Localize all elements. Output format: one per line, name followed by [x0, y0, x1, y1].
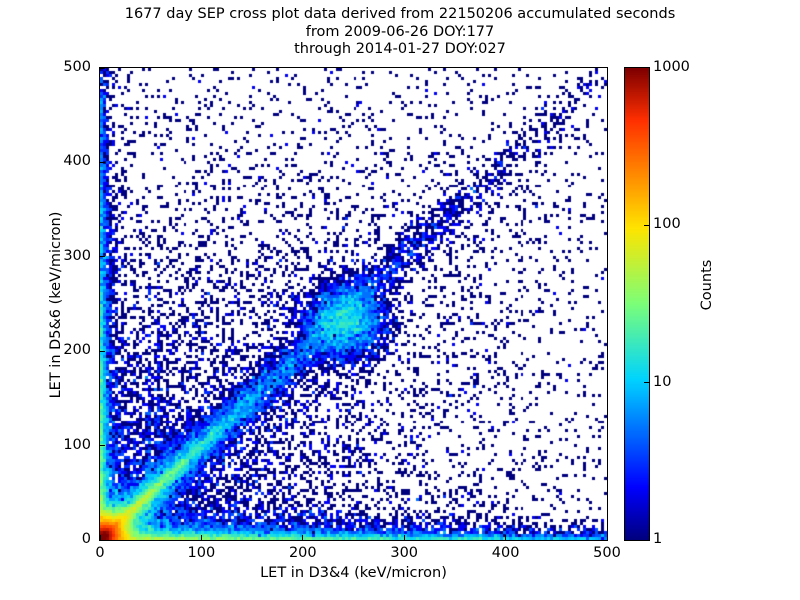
y-tick-mark: [100, 256, 105, 257]
x-axis-label: LET in D3&4 (keV/micron): [99, 565, 608, 581]
x-tick-label: 400: [476, 545, 536, 561]
title-line-through: through 2014-01-27 DOY:027: [0, 41, 800, 59]
y-tick-label: 0: [31, 531, 91, 547]
colorbar-tick-mark: [644, 225, 649, 226]
colorbar-tick-label: 1: [653, 531, 662, 547]
x-tick-label: 200: [273, 545, 333, 561]
x-tick-label: 300: [374, 545, 434, 561]
x-tick-mark: [607, 535, 608, 540]
colorbar[interactable]: [624, 67, 650, 541]
x-tick-mark: [302, 535, 303, 540]
title-line-main: 1677 day SEP cross plot data derived fro…: [0, 6, 800, 24]
colorbar-gradient: [625, 68, 649, 540]
heatmap-canvas[interactable]: [100, 68, 607, 540]
y-tick-mark: [100, 540, 105, 541]
y-tick-label: 400: [31, 153, 91, 169]
x-tick-label: 500: [577, 545, 637, 561]
colorbar-tick-label: 100: [653, 216, 681, 232]
chart-title: 1677 day SEP cross plot data derived fro…: [0, 6, 800, 59]
x-tick-label: 0: [70, 545, 130, 561]
figure-root: 1677 day SEP cross plot data derived fro…: [0, 0, 800, 600]
x-tick-mark: [404, 535, 405, 540]
colorbar-tick-mark: [644, 382, 649, 383]
colorbar-tick-label: 1000: [653, 59, 690, 75]
y-axis-label: LET in D5&6 (keV/micron): [48, 175, 64, 435]
y-tick-label: 500: [31, 59, 91, 75]
x-tick-label: 100: [171, 545, 231, 561]
y-tick-mark: [100, 162, 105, 163]
title-line-from: from 2009-06-26 DOY:177: [0, 24, 800, 42]
colorbar-label: Counts: [699, 195, 715, 375]
plot-area[interactable]: [99, 67, 608, 541]
y-tick-label: 100: [31, 437, 91, 453]
y-tick-mark: [100, 351, 105, 352]
colorbar-tick-label: 10: [653, 374, 671, 390]
x-tick-mark: [505, 535, 506, 540]
y-tick-mark: [100, 445, 105, 446]
y-tick-mark: [100, 68, 105, 69]
x-tick-mark: [201, 535, 202, 540]
